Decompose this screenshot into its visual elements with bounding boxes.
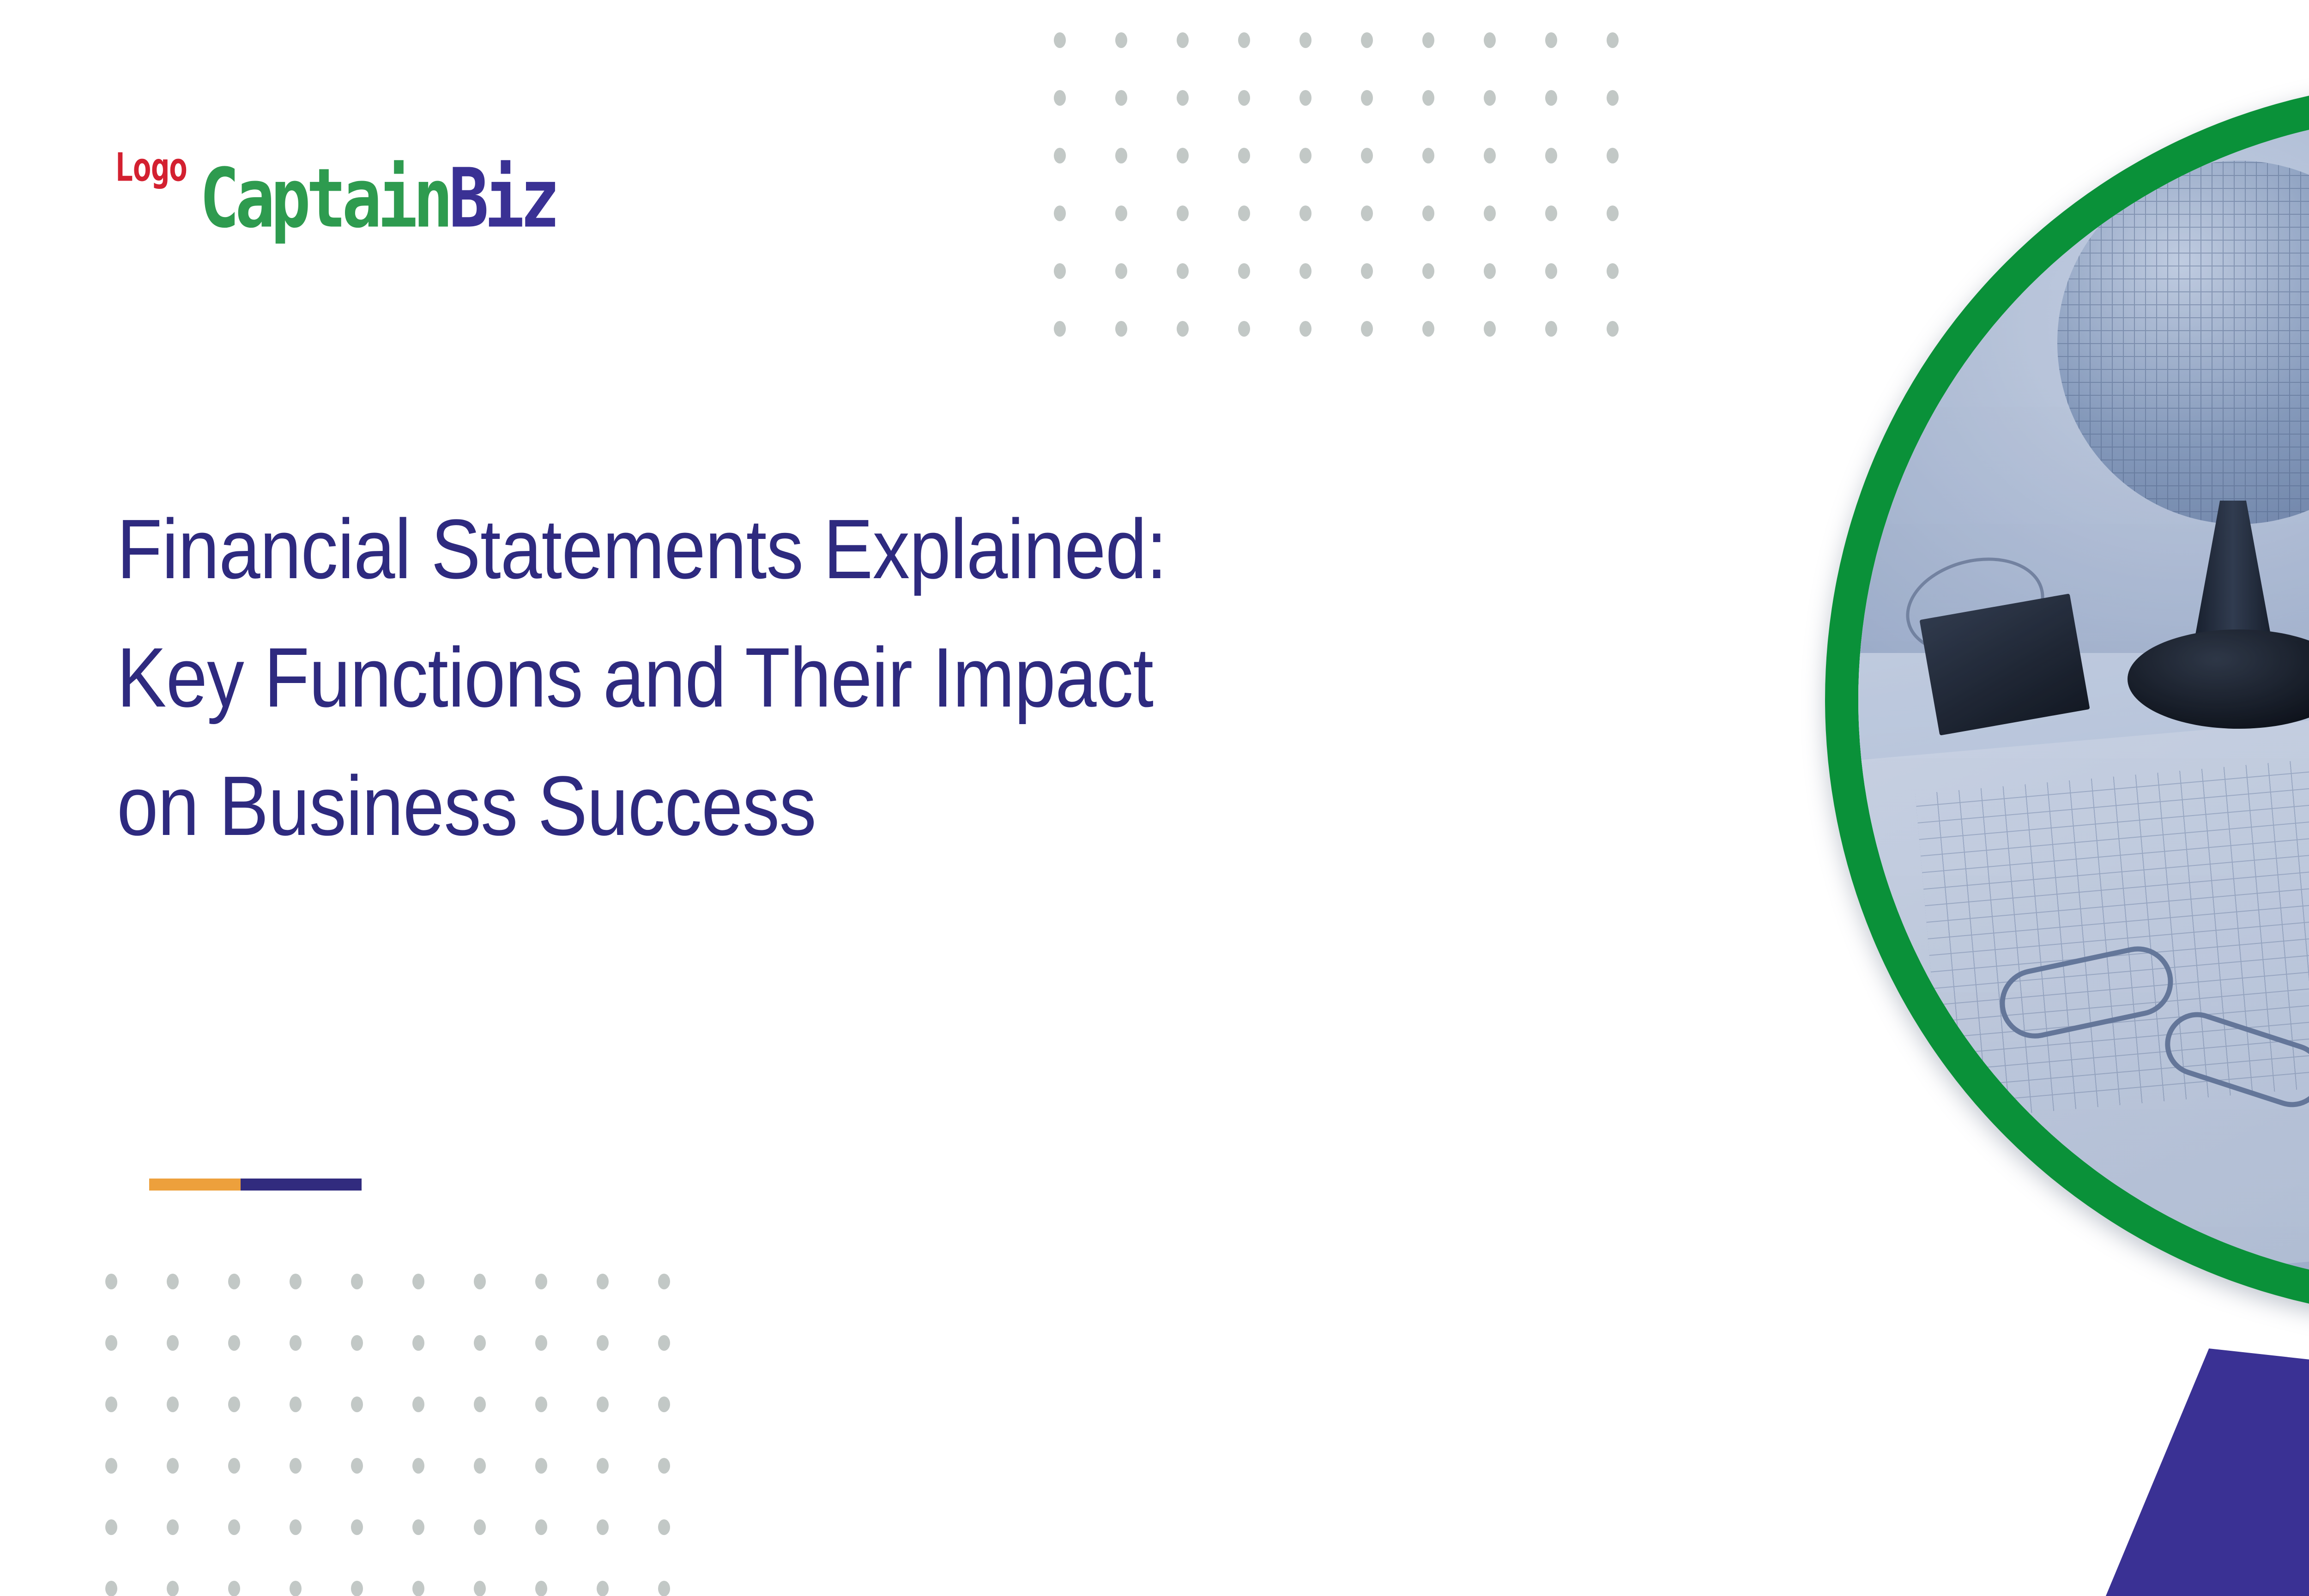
decorative-dot (1545, 148, 1557, 163)
logo-letter-B: B (449, 158, 484, 240)
decorative-dot (412, 1396, 424, 1412)
decorative-dot (1607, 90, 1619, 106)
decorative-dot (474, 1396, 486, 1412)
decorative-dot (228, 1396, 240, 1412)
decorative-dot (351, 1274, 363, 1289)
headline-line-1: Financial Statements Explained: (117, 485, 1620, 613)
decorative-dot (105, 1519, 117, 1535)
decorative-dot (1361, 148, 1373, 163)
logo-letter-p: p (271, 158, 306, 240)
decorative-dot (1607, 263, 1619, 279)
decorative-dot (351, 1458, 363, 1474)
decorative-dot (1545, 263, 1557, 279)
decorative-dot (1238, 90, 1250, 106)
decorative-dot (412, 1458, 424, 1474)
decorative-dot (1054, 206, 1066, 221)
decorative-dot (474, 1458, 486, 1474)
decorative-dot (535, 1458, 547, 1474)
decorative-dot (290, 1581, 302, 1596)
decorative-dot (1484, 206, 1496, 221)
decorative-dot (1484, 263, 1496, 279)
decorative-dot (535, 1581, 547, 1596)
decorative-dot (228, 1458, 240, 1474)
decorative-dot (1054, 321, 1066, 337)
decorative-dot (1607, 148, 1619, 163)
decorative-dot (1238, 32, 1250, 48)
logo-letter-a2: a (342, 158, 378, 240)
decorative-dot (1545, 321, 1557, 337)
decorative-dot (1484, 32, 1496, 48)
decorative-dot (1238, 148, 1250, 163)
photo-blue-tint-overlay (1858, 114, 2309, 1285)
decorative-dot (658, 1396, 670, 1412)
decorative-dot (228, 1335, 240, 1351)
decorative-dot (412, 1274, 424, 1289)
decorative-dot (228, 1274, 240, 1289)
decorative-dot (1238, 206, 1250, 221)
logo-letter-t: t (307, 158, 342, 240)
decorative-dot (1422, 321, 1434, 337)
hero-photo: FINANCE (1858, 114, 2309, 1285)
decorative-dot (228, 1581, 240, 1596)
decorative-dot (658, 1519, 670, 1535)
brand-logo[interactable]: Logo CaptainBiz (115, 147, 570, 230)
decorative-dot (658, 1274, 670, 1289)
decorative-dot (290, 1396, 302, 1412)
logo-letter-n: n (413, 158, 449, 240)
navy-bottom-shape-2 (2106, 1348, 2309, 1596)
decorative-dot (412, 1581, 424, 1596)
decorative-dot (1484, 321, 1496, 337)
decorative-dot (105, 1581, 117, 1596)
decorative-dot (105, 1335, 117, 1351)
decorative-dot (167, 1396, 179, 1412)
decorative-dot (535, 1396, 547, 1412)
decorative-dot (1484, 90, 1496, 106)
decorative-dot (1422, 263, 1434, 279)
decorative-dot (290, 1519, 302, 1535)
decorative-dot (1115, 206, 1127, 221)
decorative-dot (1115, 321, 1127, 337)
decorative-dot (351, 1396, 363, 1412)
decorative-dot (597, 1519, 609, 1535)
decorative-dot (290, 1335, 302, 1351)
decorative-dot (1545, 206, 1557, 221)
decorative-dot (1177, 148, 1189, 163)
decorative-dot (474, 1519, 486, 1535)
logo-wordmark: CaptainBiz (199, 158, 556, 240)
decorative-dot (658, 1581, 670, 1596)
decorative-dot (535, 1519, 547, 1535)
decorative-dot (412, 1335, 424, 1351)
decorative-dot (1545, 32, 1557, 48)
decorative-dot (474, 1335, 486, 1351)
logo-letter-C: C (199, 158, 235, 240)
decorative-dot-grid-top (1054, 32, 1668, 379)
decorative-dot (597, 1581, 609, 1596)
decorative-dot (597, 1458, 609, 1474)
decorative-dot (474, 1274, 486, 1289)
logo-letter-a1: a (235, 158, 271, 240)
decorative-dot (1300, 148, 1312, 163)
decorative-dot (105, 1274, 117, 1289)
decorative-dot (1238, 263, 1250, 279)
logo-letter-z: z (520, 158, 556, 240)
decorative-dot (1361, 321, 1373, 337)
decorative-dot (1177, 263, 1189, 279)
decorative-dot (1177, 90, 1189, 106)
accent-bar-orange-segment (149, 1179, 241, 1191)
decorative-dot (290, 1274, 302, 1289)
decorative-dot (474, 1581, 486, 1596)
decorative-dot (658, 1458, 670, 1474)
decorative-dot (1054, 148, 1066, 163)
decorative-dot (167, 1274, 179, 1289)
decorative-dot (597, 1396, 609, 1412)
decorative-dot (1361, 90, 1373, 106)
decorative-dot (1361, 263, 1373, 279)
decorative-dot (228, 1519, 240, 1535)
decorative-dot (597, 1335, 609, 1351)
decorative-dot (1054, 90, 1066, 106)
decorative-dot (1177, 321, 1189, 337)
decorative-dot (105, 1396, 117, 1412)
decorative-dot (1545, 90, 1557, 106)
decorative-dot (412, 1519, 424, 1535)
logo-prefix-text: Logo (115, 148, 187, 187)
decorative-dot (1422, 206, 1434, 221)
headline-line-2: Key Functions and Their Impact (117, 613, 1620, 742)
decorative-dot (1422, 148, 1434, 163)
decorative-dot (167, 1458, 179, 1474)
decorative-dot (351, 1581, 363, 1596)
decorative-dot-grid-bottom (105, 1274, 719, 1596)
decorative-dot (1115, 148, 1127, 163)
logo-letter-i1: i (378, 158, 413, 240)
decorative-dot (1422, 32, 1434, 48)
decorative-dot (351, 1519, 363, 1535)
decorative-dot (1115, 90, 1127, 106)
hero-image-circle: FINANCE (1825, 81, 2309, 1318)
decorative-dot (1300, 90, 1312, 106)
decorative-dot (1177, 32, 1189, 48)
decorative-dot (351, 1335, 363, 1351)
decorative-dot (290, 1458, 302, 1474)
decorative-dot (167, 1335, 179, 1351)
decorative-dot (167, 1519, 179, 1535)
decorative-dot (1238, 321, 1250, 337)
decorative-dot (1300, 263, 1312, 279)
decorative-dot (105, 1458, 117, 1474)
decorative-dot (167, 1581, 179, 1596)
decorative-dot (1361, 32, 1373, 48)
decorative-dot (1054, 32, 1066, 48)
accent-bar (149, 1179, 362, 1191)
decorative-dot (1361, 206, 1373, 221)
decorative-dot (1607, 32, 1619, 48)
decorative-dot (658, 1335, 670, 1351)
decorative-dot (1300, 321, 1312, 337)
decorative-dot (535, 1335, 547, 1351)
page-title: Financial Statements Explained: Key Func… (117, 485, 1620, 870)
decorative-dot (1422, 90, 1434, 106)
decorative-dot (1177, 206, 1189, 221)
accent-bar-navy-segment (241, 1179, 362, 1191)
decorative-dot (1607, 321, 1619, 337)
decorative-dot (1115, 32, 1127, 48)
decorative-dot (1484, 148, 1496, 163)
decorative-dot (1300, 32, 1312, 48)
decorative-dot (535, 1274, 547, 1289)
decorative-dot (1607, 206, 1619, 221)
decorative-dot (1115, 263, 1127, 279)
banner-canvas: Logo CaptainBiz Financial Statements Exp… (0, 0, 2309, 1596)
decorative-dot (597, 1274, 609, 1289)
headline-line-3: on Business Success (117, 742, 1620, 870)
logo-letter-i2: i (484, 158, 520, 240)
decorative-dot (1054, 263, 1066, 279)
decorative-dot (1300, 206, 1312, 221)
